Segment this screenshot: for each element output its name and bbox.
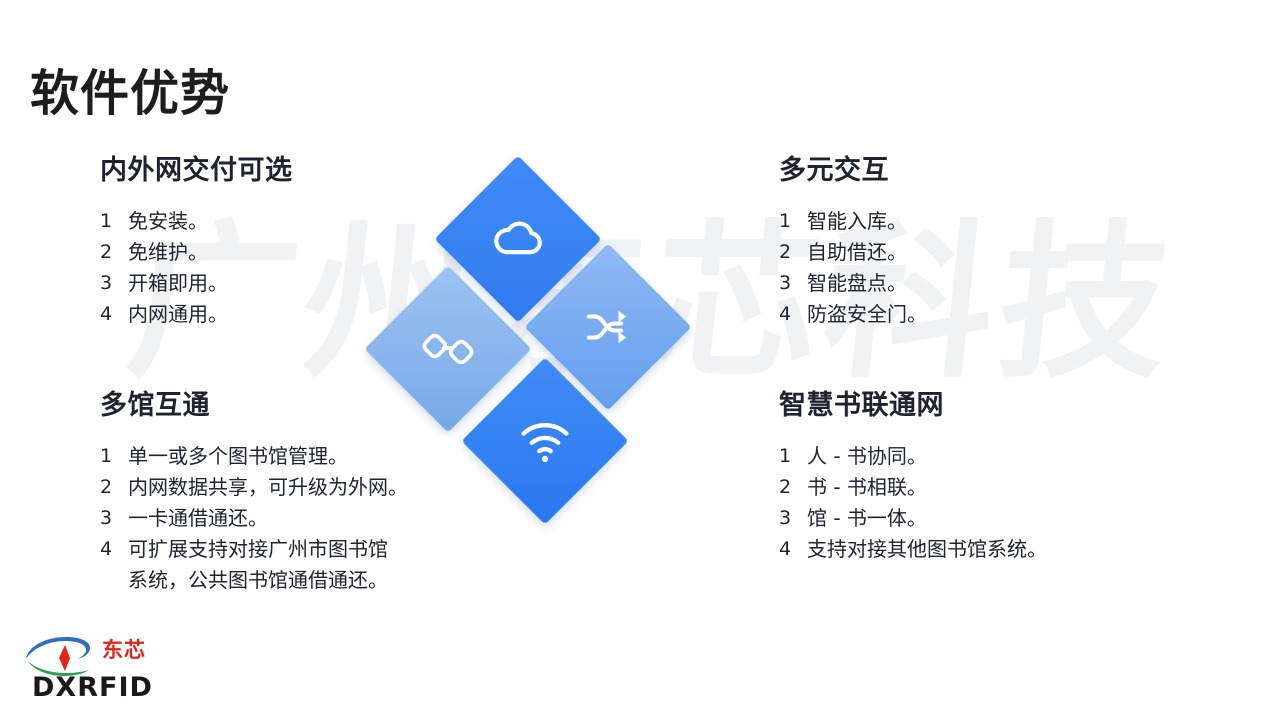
company-logo: 东芯 DXRFID xyxy=(18,628,168,704)
list-item-text: 人 - 书协同。 xyxy=(807,441,1179,472)
list-item: 3 开箱即用。 xyxy=(100,268,470,299)
list-item: 1 免安装。 xyxy=(100,206,470,237)
list-item-number: 3 xyxy=(100,268,128,299)
list-item-number: 1 xyxy=(779,206,807,237)
list-item-number: 3 xyxy=(100,503,128,534)
list-item-text: 内网数据共享，可升级为外网。 xyxy=(128,472,500,503)
shuffle-icon xyxy=(580,299,636,355)
list-item: 1 人 - 书协同。 xyxy=(779,441,1179,472)
list-item-text: 开箱即用。 xyxy=(128,268,470,299)
cloud-icon xyxy=(489,210,547,268)
list-item-number: 4 xyxy=(779,299,807,330)
list-item-text: 智能盘点。 xyxy=(807,268,1159,299)
feature-block-internal-external-delivery: 内外网交付可选 1 免安装。 2 免维护。 3 开箱即用。 4 内网通用。 xyxy=(100,156,470,330)
feature-block-multi-modal-interaction: 多元交互 1 智能入库。 2 自助借还。 3 智能盘点。 4 防盗安全门。 xyxy=(779,156,1159,330)
list-item-text: 单一或多个图书馆管理。 xyxy=(128,441,500,472)
list-item-number: 1 xyxy=(100,441,128,472)
list-item-text: 内网通用。 xyxy=(128,299,470,330)
list-item: 4 防盗安全门。 xyxy=(779,299,1159,330)
block-heading: 智慧书联通网 xyxy=(779,391,1179,421)
link-icon xyxy=(421,322,475,376)
list-item-number: 3 xyxy=(779,268,807,299)
feature-list: 1 免安装。 2 免维护。 3 开箱即用。 4 内网通用。 xyxy=(100,206,470,330)
list-item-number: 2 xyxy=(779,472,807,503)
list-item-text: 防盗安全门。 xyxy=(807,299,1159,330)
list-item-number: 2 xyxy=(100,472,128,503)
block-heading: 内外网交付可选 xyxy=(100,156,470,186)
logo-chinese-name: 东芯 xyxy=(102,634,146,664)
list-item-text: 可扩展支持对接广州市图书馆 系统，公共图书馆通借通还。 xyxy=(128,534,500,596)
list-item-number: 3 xyxy=(779,503,807,534)
list-item-number: 4 xyxy=(100,534,128,565)
wifi-icon xyxy=(517,413,573,469)
logo-wordmark: DXRFID xyxy=(32,672,153,703)
block-heading: 多元交互 xyxy=(779,156,1159,186)
list-item: 2 书 - 书相联。 xyxy=(779,472,1179,503)
list-item-text: 免维护。 xyxy=(128,237,470,268)
block-heading: 多馆互通 xyxy=(100,391,500,421)
list-item: 3 智能盘点。 xyxy=(779,268,1159,299)
list-item: 4 可扩展支持对接广州市图书馆 系统，公共图书馆通借通还。 xyxy=(100,534,500,596)
list-item: 1 智能入库。 xyxy=(779,206,1159,237)
list-item: 2 自助借还。 xyxy=(779,237,1159,268)
list-item-text: 智能入库。 xyxy=(807,206,1159,237)
feature-block-multi-library-interconnect: 多馆互通 1 单一或多个图书馆管理。 2 内网数据共享，可升级为外网。 3 一卡… xyxy=(100,391,500,596)
feature-list: 1 单一或多个图书馆管理。 2 内网数据共享，可升级为外网。 3 一卡通借通还。… xyxy=(100,441,500,596)
list-item-text: 书 - 书相联。 xyxy=(807,472,1179,503)
list-item: 4 支持对接其他图书馆系统。 xyxy=(779,534,1179,565)
list-item-text: 一卡通借通还。 xyxy=(128,503,500,534)
list-item-number: 2 xyxy=(100,237,128,268)
list-item-text: 支持对接其他图书馆系统。 xyxy=(807,534,1179,565)
list-item: 4 内网通用。 xyxy=(100,299,470,330)
list-item-text: 自助借还。 xyxy=(807,237,1159,268)
list-item-number: 4 xyxy=(779,534,807,565)
slide-root: 广州东芯科技 软件优势 内外网交付可选 1 免安装。 2 免维护。 3 开箱即用… xyxy=(0,0,1280,720)
list-item: 3 馆 - 书一体。 xyxy=(779,503,1179,534)
list-item: 1 单一或多个图书馆管理。 xyxy=(100,441,500,472)
list-item-text: 馆 - 书一体。 xyxy=(807,503,1179,534)
list-item-number: 2 xyxy=(779,237,807,268)
page-title: 软件优势 xyxy=(30,54,230,125)
list-item: 3 一卡通借通还。 xyxy=(100,503,500,534)
list-item-number: 1 xyxy=(779,441,807,472)
list-item: 2 免维护。 xyxy=(100,237,470,268)
list-item-number: 4 xyxy=(100,299,128,330)
feature-list: 1 人 - 书协同。 2 书 - 书相联。 3 馆 - 书一体。 4 支持对接其… xyxy=(779,441,1179,565)
list-item-text: 免安装。 xyxy=(128,206,470,237)
list-item-number: 1 xyxy=(100,206,128,237)
feature-list: 1 智能入库。 2 自助借还。 3 智能盘点。 4 防盗安全门。 xyxy=(779,206,1159,330)
list-item: 2 内网数据共享，可升级为外网。 xyxy=(100,472,500,503)
feature-block-smart-book-network: 智慧书联通网 1 人 - 书协同。 2 书 - 书相联。 3 馆 - 书一体。 … xyxy=(779,391,1179,565)
